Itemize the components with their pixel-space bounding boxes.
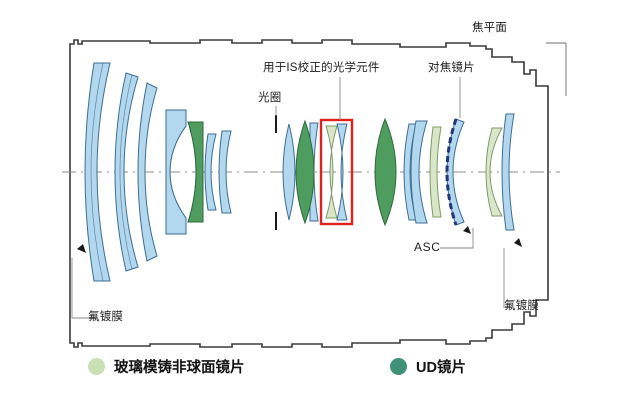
label-asc: ASC	[414, 241, 440, 254]
lens-cross-section-svg	[0, 0, 619, 400]
label-fluorine-coating-right: 氟镀膜	[504, 300, 539, 313]
element-15-doublet-rear	[411, 121, 427, 223]
rear-lens-group	[375, 114, 514, 230]
label-is-optical-element: 用于IS校正的光学元件	[263, 62, 380, 75]
element-1-front-meniscus	[85, 63, 110, 281]
circle-swatch-ud	[390, 358, 407, 375]
legend-label-ud: UD镜片	[416, 356, 466, 377]
legend-item-ud: UD镜片	[390, 356, 466, 377]
lens-diagram-page: 焦平面 用于IS校正的光学元件 对焦镜片 光圈 ASC 氟镀膜 氟镀膜 玻璃模铸…	[0, 0, 619, 400]
leader-lines	[72, 43, 566, 318]
front-lens-group	[85, 63, 231, 281]
element-18-aspherical	[486, 128, 502, 216]
label-focal-plane: 焦平面	[472, 22, 507, 35]
label-focusing-lens: 对焦镜片	[428, 62, 475, 75]
circle-swatch-aspherical	[88, 358, 105, 375]
label-fluorine-coating-left: 氟镀膜	[88, 311, 123, 324]
element-8-biconvex	[283, 124, 295, 220]
legend-label-aspherical: 玻璃模铸非球面镜片	[114, 356, 245, 377]
label-aperture: 光圈	[258, 92, 281, 105]
legend: 玻璃模铸非球面镜片 UD镜片	[0, 352, 619, 392]
element-5-ud	[188, 122, 203, 222]
middle-lens-group	[283, 120, 352, 224]
element-13-ud	[375, 119, 396, 225]
element-12-is-glass	[337, 124, 347, 220]
legend-item-aspherical: 玻璃模铸非球面镜片	[88, 356, 245, 377]
element-6-small	[205, 134, 216, 210]
